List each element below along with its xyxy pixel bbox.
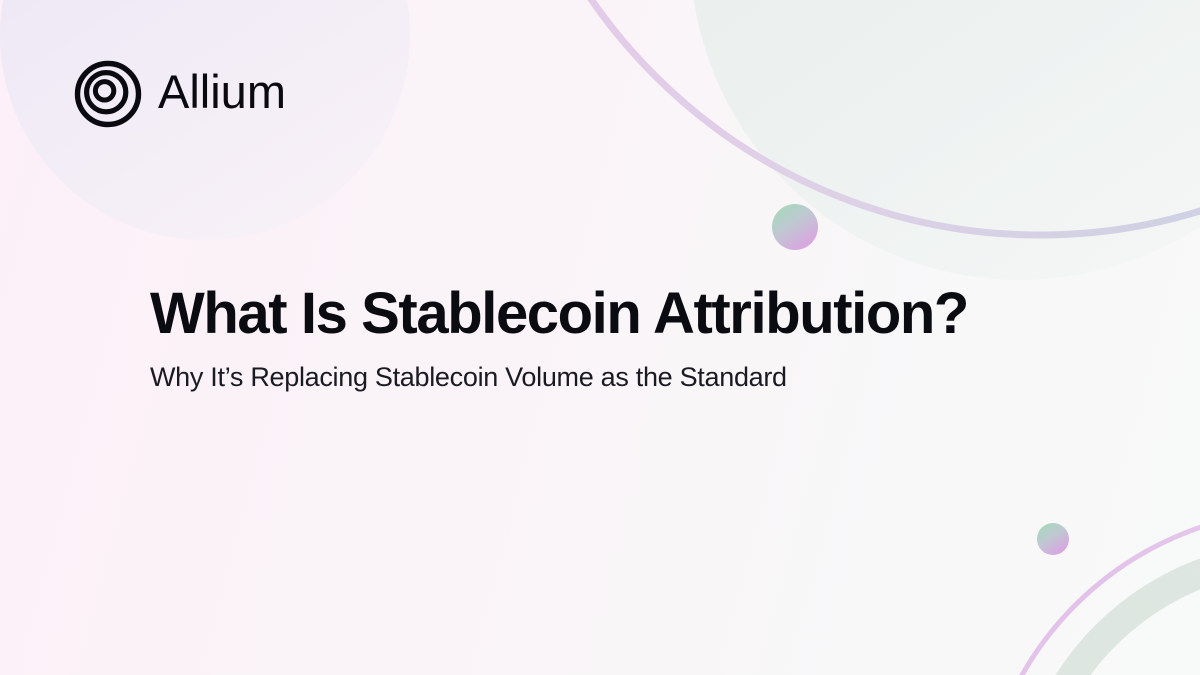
brand-logo-lockup[interactable]: Allium xyxy=(74,60,328,128)
title-text-block: What Is Stablecoin Attribution? Why It’s… xyxy=(150,282,968,393)
arc-node-dot-large xyxy=(772,204,818,250)
arc-node-dot-small xyxy=(1037,523,1069,555)
bottom-right-thick-sage-arc xyxy=(1025,555,1200,675)
brand-wordmark: Allium xyxy=(158,68,328,120)
page-subtitle: Why It’s Replacing Stablecoin Volume as … xyxy=(150,361,968,393)
brand-wordmark-text: Allium xyxy=(158,68,286,118)
page-title: What Is Stablecoin Attribution? xyxy=(150,282,968,347)
large-sweeping-arc xyxy=(495,0,1200,235)
top-right-sage-blob xyxy=(690,0,1200,280)
concentric-circles-icon xyxy=(74,60,142,128)
title-slide: Allium What Is Stablecoin Attribution? W… xyxy=(0,0,1200,675)
bottom-right-thin-arc xyxy=(980,510,1200,675)
